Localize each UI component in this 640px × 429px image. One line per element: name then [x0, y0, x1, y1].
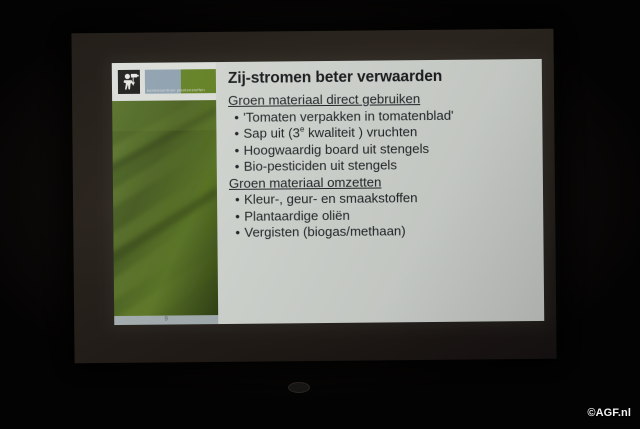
- screen-mount-nub: [288, 382, 310, 393]
- section-heading-2: Groen materiaal omzetten: [229, 173, 535, 191]
- bullet-dot: •: [235, 192, 244, 207]
- presentation-photo: kenniscentrum plantenstoffen: [0, 0, 640, 429]
- projected-slide: kenniscentrum plantenstoffen: [112, 59, 544, 325]
- slide-page-number: 9: [165, 316, 168, 325]
- bullet-item: •'Tomaten verpakken in tomatenblad': [234, 107, 534, 125]
- bullet-dot: •: [235, 159, 244, 174]
- bullet-dot: •: [235, 208, 244, 223]
- green-leaf-photo: [112, 100, 218, 316]
- bullet-dot: •: [235, 142, 244, 157]
- slide-footer-bar: 9: [114, 315, 218, 325]
- slide-content-column: Zij-stromen beter verwaarden Groen mater…: [216, 59, 544, 324]
- bullet-text: Bio-pesticiden uit stengels: [244, 157, 397, 173]
- bullet-text: Hoogwaardig board uit stengels: [244, 141, 430, 158]
- bullet-item: •Vergisten (biogas/methaan): [235, 222, 535, 240]
- bullet-item: •Hoogwaardig board uit stengels: [235, 140, 535, 158]
- logo-wordmark: kenniscentrum plantenstoffen: [147, 87, 214, 93]
- section-heading-1: Groen materiaal direct gebruiken: [228, 90, 534, 108]
- bullet-dot: •: [235, 225, 244, 240]
- bullet-text: Sap uit (3: [243, 125, 300, 141]
- bullet-text: 'Tomaten verpakken in tomatenblad': [243, 107, 453, 124]
- bullet-text: Kleur-, geur- en smaakstoffen: [244, 190, 418, 207]
- bullet-item: •Bio-pesticiden uit stengels: [235, 156, 535, 174]
- bullet-item: •Plantaardige oliën: [235, 206, 535, 224]
- bullet-item: •Sap uit (3e kwaliteit ) vruchten: [234, 123, 534, 141]
- slide-left-column: kenniscentrum plantenstoffen: [112, 62, 219, 325]
- slide-title: Zij-stromen beter verwaarden: [228, 67, 534, 88]
- bullet-text-tail: kwaliteit ) vruchten: [304, 124, 417, 140]
- bullet-dot: •: [234, 126, 243, 141]
- bullet-dot: •: [234, 109, 243, 124]
- farmer-with-camera-logo-icon: [118, 70, 140, 94]
- bullet-text: Vergisten (biogas/methaan): [244, 223, 405, 240]
- bullet-text: Plantaardige oliën: [244, 207, 350, 223]
- logo-color-swatches: kenniscentrum plantenstoffen: [145, 69, 216, 94]
- watermark: ©AGF.nl: [587, 407, 631, 419]
- bullet-item: •Kleur-, geur- en smaakstoffen: [235, 189, 535, 207]
- slide-logo: kenniscentrum plantenstoffen: [112, 62, 216, 101]
